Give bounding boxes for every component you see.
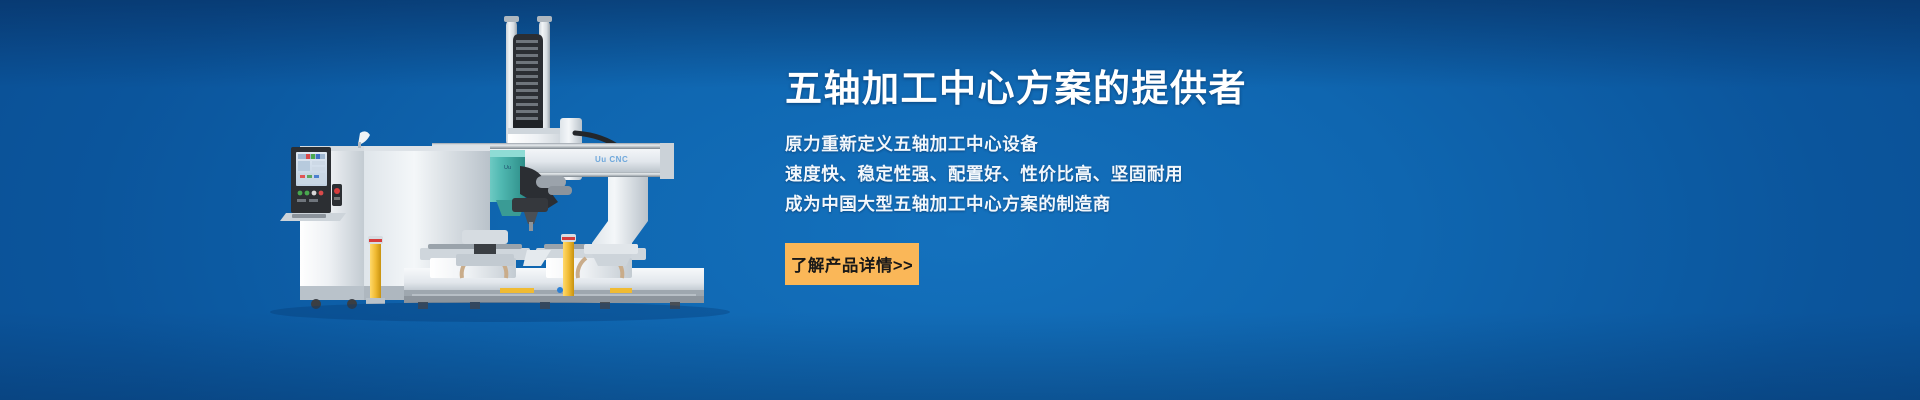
machine-base	[404, 244, 704, 309]
cable-chain	[513, 34, 543, 132]
subline-2: 速度快、稳定性强、配置好、性价比高、坚固耐用	[785, 159, 1545, 189]
subline-3: 成为中国大型五轴加工中心方案的制造商	[785, 189, 1545, 219]
learn-more-button[interactable]: 了解产品详情>>	[785, 243, 919, 285]
hero-banner: Uu CNC Uu	[0, 0, 1920, 400]
safety-posts	[366, 234, 578, 304]
svg-text:Uu: Uu	[504, 165, 511, 171]
svg-text:Uu CNC: Uu CNC	[595, 155, 628, 164]
subline-1: 原力重新定义五轴加工中心设备	[785, 129, 1545, 159]
control-cabinet: Uu CNC	[280, 131, 490, 309]
spindle-head: Uu	[483, 150, 572, 231]
work-table	[404, 230, 704, 300]
subline-list: 原力重新定义五轴加工中心设备 速度快、稳定性强、配置好、性价比高、坚固耐用 成为…	[785, 129, 1545, 219]
svg-text:Uu CNC: Uu CNC	[430, 170, 467, 180]
page-title: 五轴加工中心方案的提供者	[785, 66, 1545, 112]
hero-text-block: 五轴加工中心方案的提供者 原力重新定义五轴加工中心设备 速度快、稳定性强、配置好…	[785, 66, 1545, 285]
